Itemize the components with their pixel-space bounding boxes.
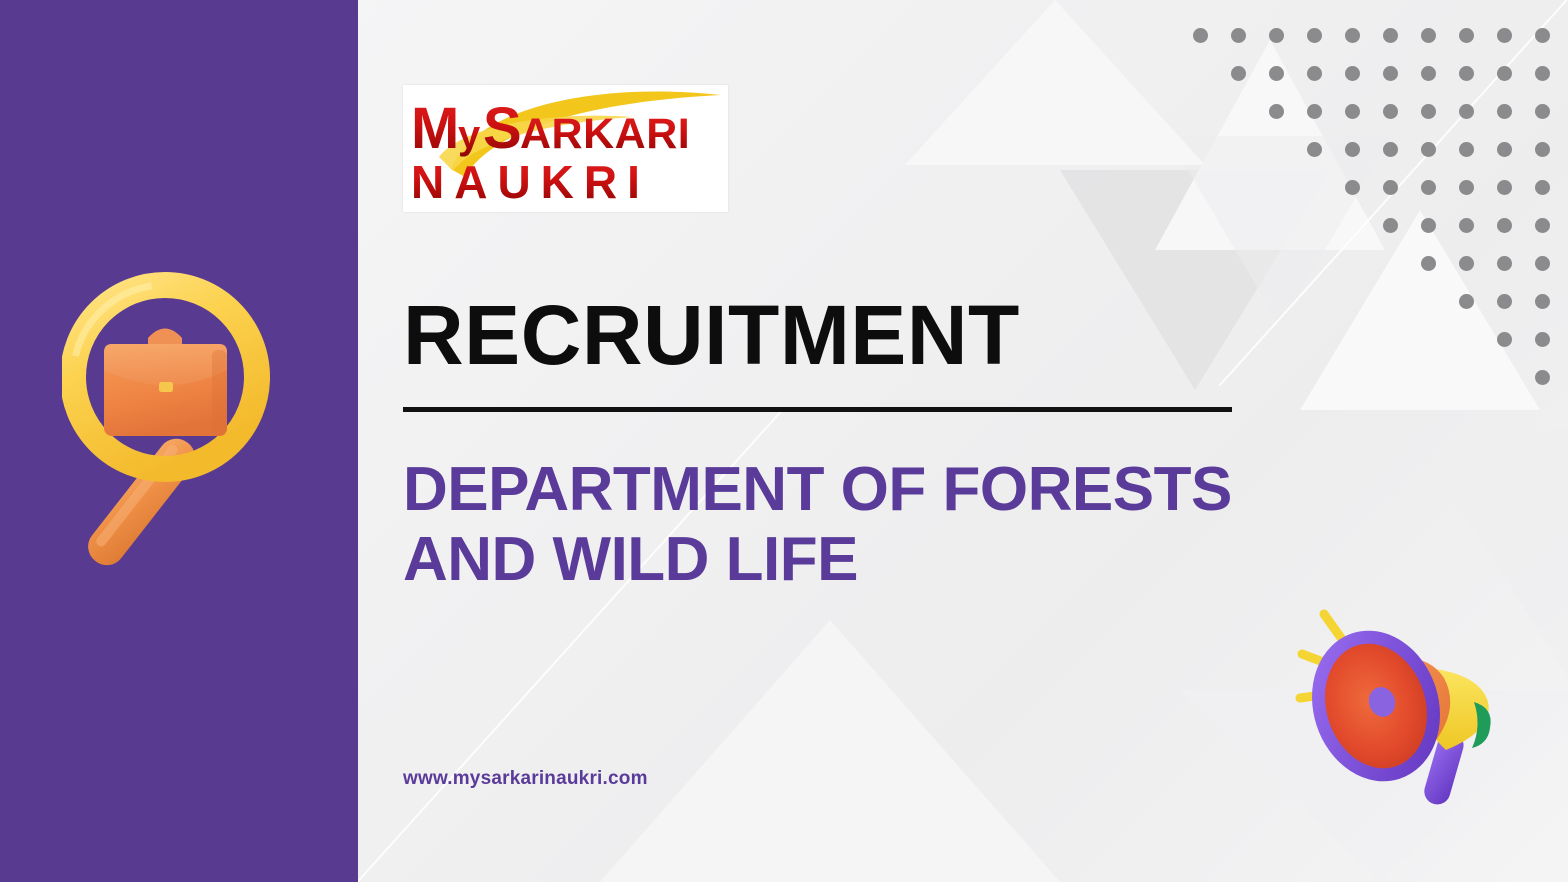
svg-text:ARKARI: ARKARI	[520, 110, 690, 158]
recruitment-banner: M y S ARKARI NAUKRI RECRUITMENT DEPARTME…	[0, 0, 1568, 882]
svg-text:NAUKRI: NAUKRI	[411, 156, 650, 208]
department-subtitle: DEPARTMENT OF FORESTS AND WILD LIFE	[403, 455, 1363, 595]
svg-text:y: y	[458, 113, 481, 157]
sidebar-purple-panel	[0, 0, 358, 882]
content-column: M y S ARKARI NAUKRI RECRUITMENT DEPARTME…	[403, 0, 1403, 882]
page-title-recruitment: RECRUITMENT	[403, 293, 1020, 377]
title-divider	[403, 407, 1232, 412]
job-search-magnifier-briefcase-icon	[62, 272, 292, 602]
svg-text:S: S	[483, 96, 521, 161]
svg-text:M: M	[411, 96, 458, 161]
website-url[interactable]: www.mysarkarinaukri.com	[403, 768, 648, 790]
announcement-megaphone-icon	[1278, 598, 1528, 818]
mysarkarinaukri-logo[interactable]: M y S ARKARI NAUKRI	[403, 85, 728, 212]
